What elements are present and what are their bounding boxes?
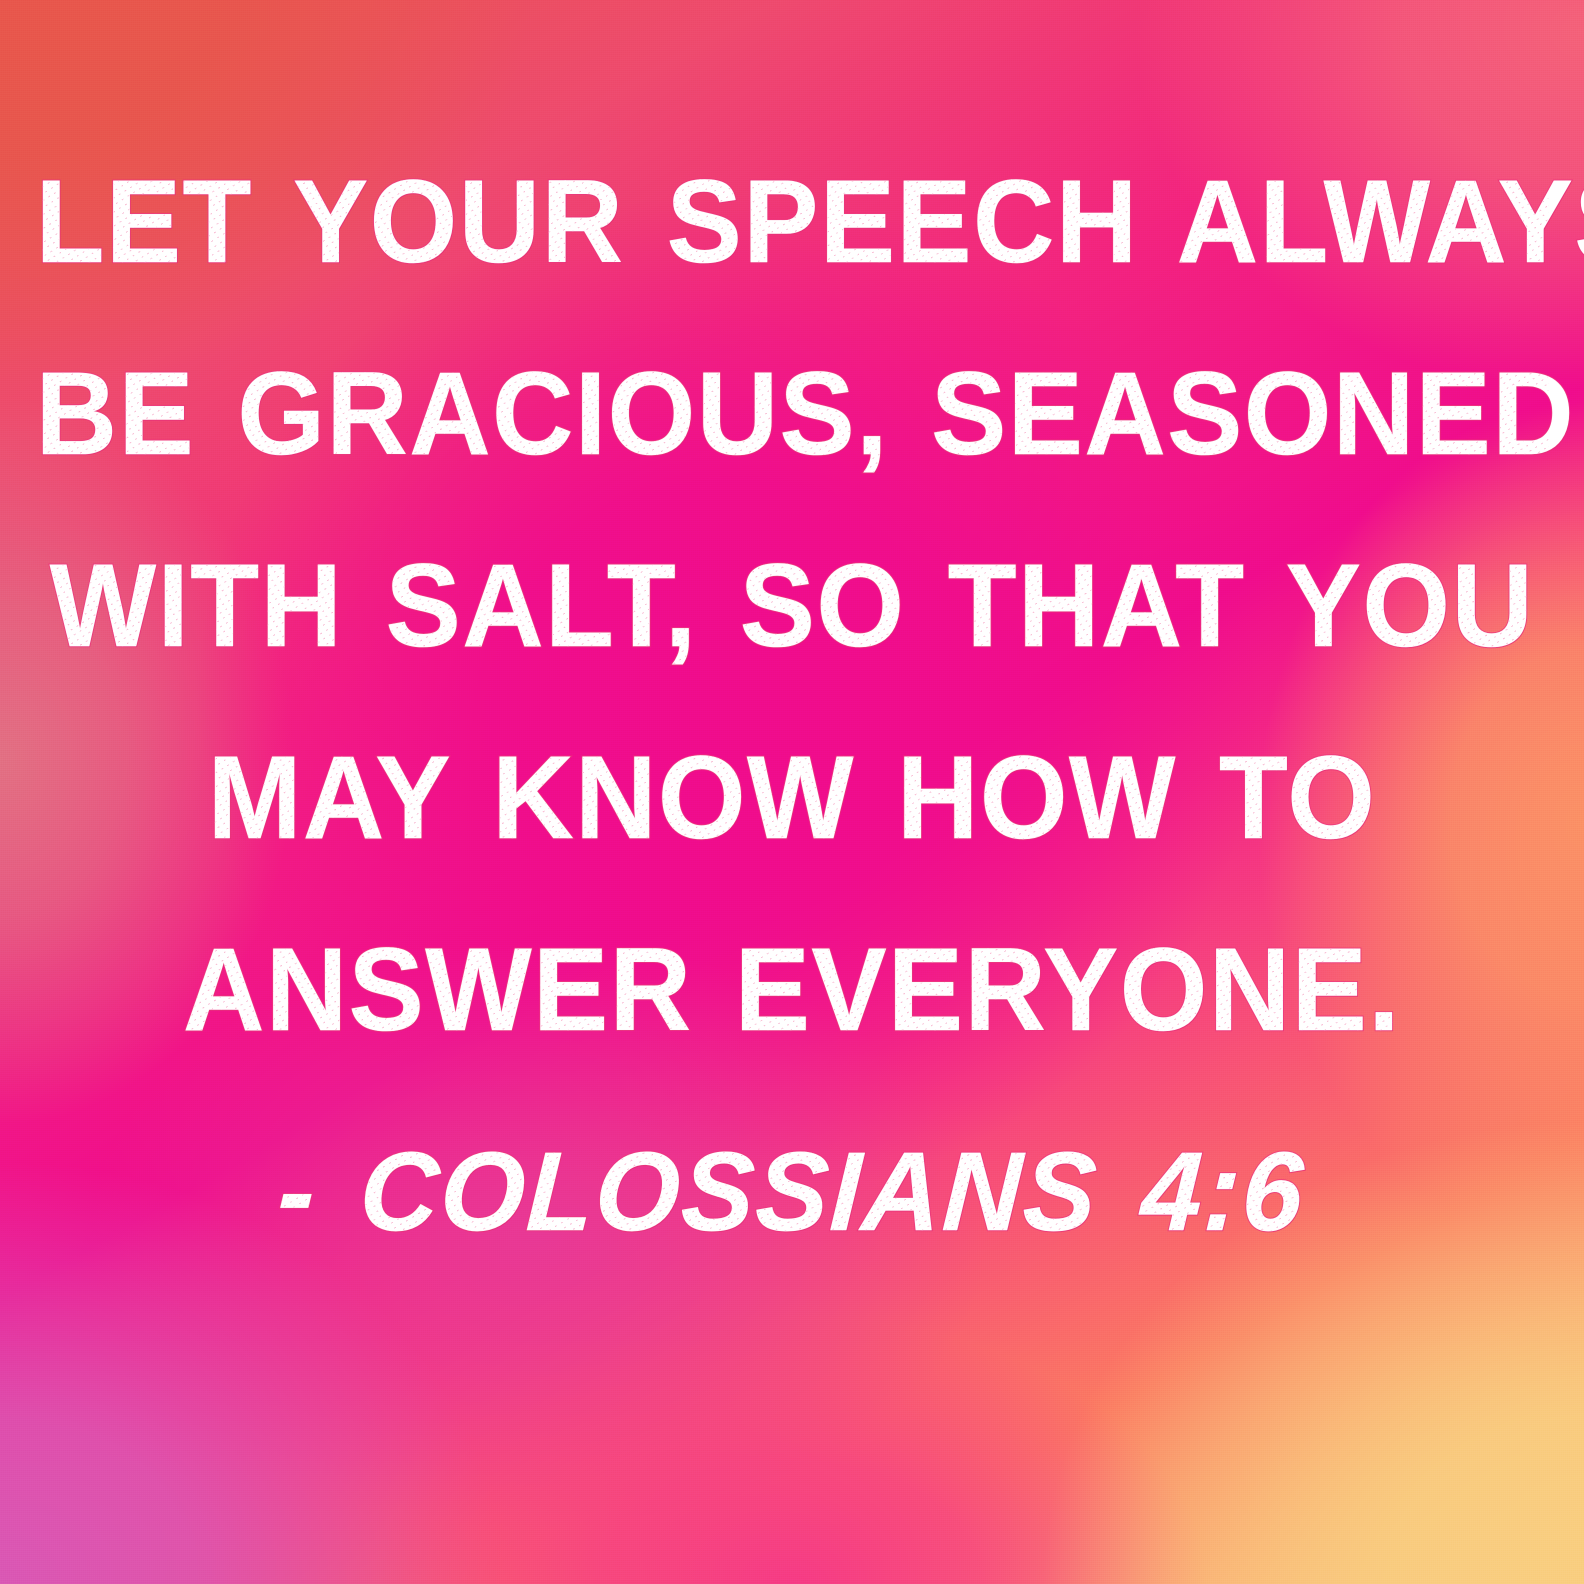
verse-line-3-text: WITH SALT, SO THAT YOU bbox=[50, 540, 1535, 672]
verse-line-4-text: MAY KNOW HOW TO bbox=[208, 732, 1377, 864]
verse-line-4: MAY KNOW HOW TO MAY KNOW HOW TO MAY KNOW… bbox=[36, 702, 1549, 894]
verse-image-canvas: LET YOUR SPEECH ALWAYS LET YOUR SPEECH A… bbox=[0, 0, 1584, 1584]
verse-citation-text: - COLOSSIANS 4:6 bbox=[275, 1129, 1308, 1254]
verse-line-2: BE GRACIOUS, SEASONED BE GRACIOUS, SEASO… bbox=[36, 318, 1549, 510]
verse-line-5: ANSWER EVERYONE. ANSWER EVERYONE. ANSWER… bbox=[36, 894, 1549, 1086]
verse-line-5-text: ANSWER EVERYONE. bbox=[183, 924, 1401, 1056]
verse-line-2-text: BE GRACIOUS, SEASONED bbox=[36, 348, 1575, 480]
verse-line-1-text: LET YOUR SPEECH ALWAYS bbox=[36, 156, 1584, 288]
verse-line-1: LET YOUR SPEECH ALWAYS LET YOUR SPEECH A… bbox=[36, 126, 1549, 318]
verse-citation: - COLOSSIANS 4:6 - COLOSSIANS 4:6 - COLO… bbox=[19, 1092, 1565, 1272]
verse-text-block: LET YOUR SPEECH ALWAYS LET YOUR SPEECH A… bbox=[0, 126, 1584, 1272]
verse-line-3: WITH SALT, SO THAT YOU WITH SALT, SO THA… bbox=[36, 510, 1549, 702]
